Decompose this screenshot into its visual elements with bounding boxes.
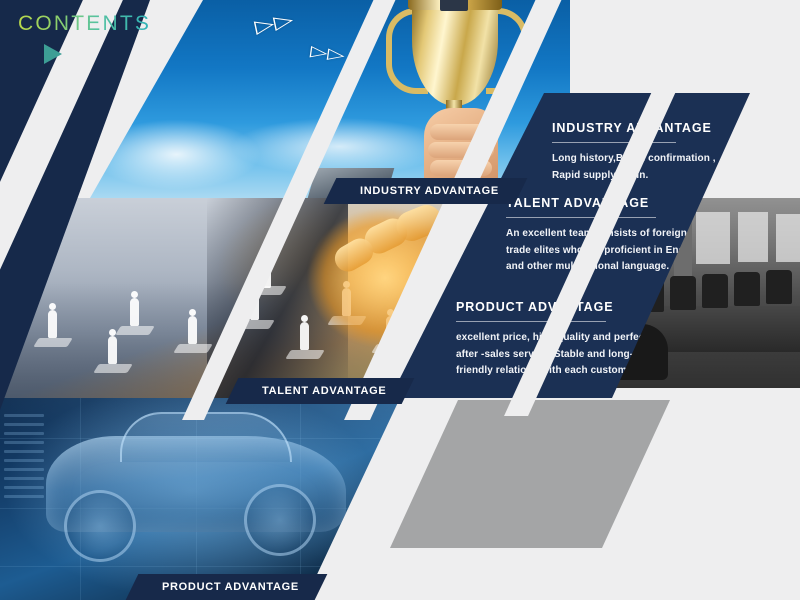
caption-industry-label: INDUSTRY ADVANTAGE [360,185,499,197]
window-pane [738,212,768,262]
window-pane [696,212,730,264]
page-title: CONTENTS [18,12,151,36]
caption-product-label: PRODUCT ADVANTAGE [162,581,299,593]
caption-industry-advantage[interactable]: INDUSTRY ADVANTAGE [324,178,528,204]
gray-accent-shape [390,400,670,548]
platform-plate [115,326,155,335]
seagull-icon: ▷▷ [309,44,345,64]
office-chair [766,270,792,304]
platform-plate [93,364,133,373]
platform-plate [33,338,73,347]
person-silhouette [188,316,197,344]
office-chair [734,272,760,306]
car-wheel [244,484,316,556]
heading-divider [552,142,676,143]
office-chair [670,276,696,310]
person-silhouette [108,336,117,364]
caption-talent-label: TALENT ADVANTAGE [262,385,386,397]
heading-divider [506,217,656,218]
office-chair [702,274,728,308]
platform-plate [173,344,213,353]
hud-readout [4,408,44,578]
person-silhouette [130,298,139,326]
caption-product-advantage[interactable]: PRODUCT ADVANTAGE [126,574,328,600]
play-triangle-icon [44,44,62,64]
slide-canvas: ▷▷ ▷▷ [0,0,800,600]
trophy-band [440,0,468,11]
car-roof-wireframe [120,412,292,462]
heading-divider [456,321,606,322]
caption-talent-advantage[interactable]: TALENT ADVANTAGE [226,378,415,404]
person-silhouette [48,310,57,338]
window-pane [776,214,800,262]
background-fill-right [668,388,800,600]
car-wheel [64,490,136,562]
